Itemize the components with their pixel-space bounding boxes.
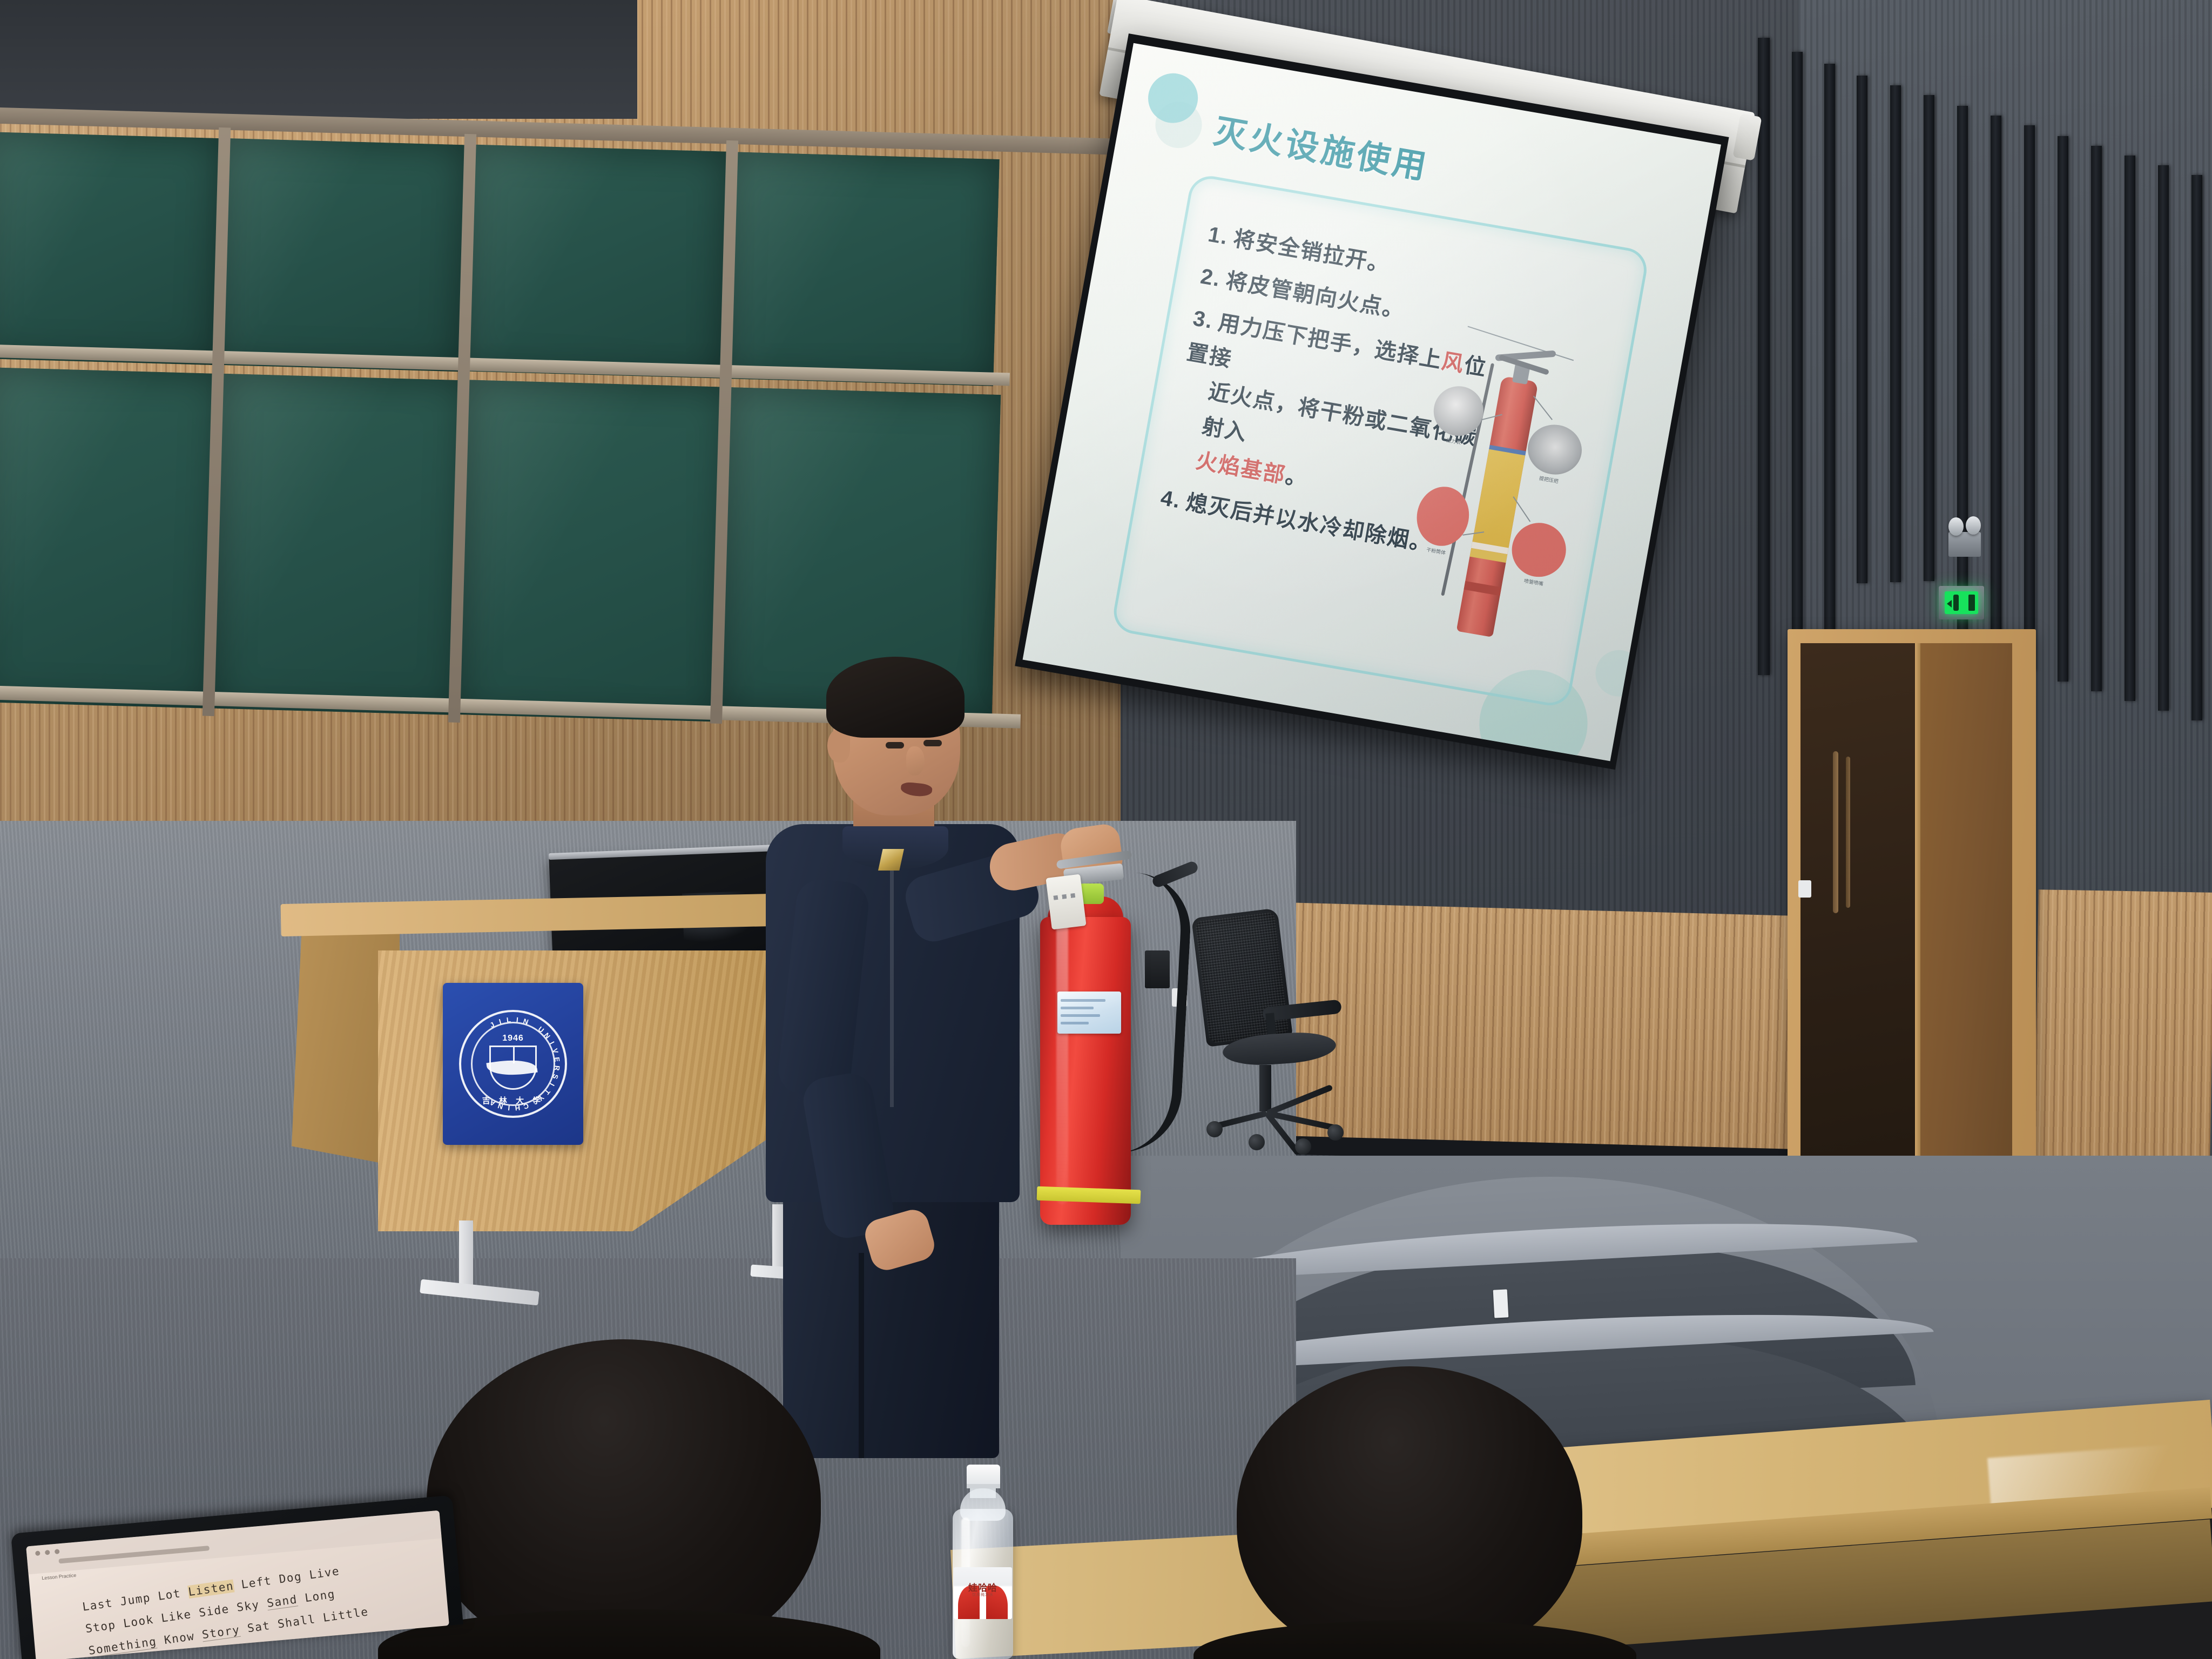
slide-step-3-number: 3. [1191,306,1216,333]
water-bottle[interactable]: 娃哈哈 饮用纯净水 [946,1466,1022,1659]
chair-base [1197,1103,1343,1145]
student-head-right [1237,1366,1582,1659]
diagram-callout-nozzle [1508,519,1570,581]
extinguisher-nozzle [1151,860,1199,888]
exit-sign [1939,586,1984,619]
lecture-hall-photo: 灭火设施使用 1.将安全销拉开。 2.将皮管朝向火点。 3.用力压下把手，选择上… [0,0,2212,1659]
office-chair[interactable] [1177,913,1355,1166]
emergency-lamp-right [1966,516,1981,535]
chair-caster-4 [1206,1121,1223,1137]
door-leaf[interactable] [1915,643,2012,1193]
extinguisher-safety-pin-tag[interactable] [1046,874,1086,929]
diagram-callout-1-caption: 压力表 [1424,434,1483,450]
slide-step-3-line3-tail: 。 [1284,464,1310,491]
exit-door-icon [1968,595,1975,611]
presenter-hair [826,657,965,738]
door-recess [1800,643,1928,1193]
wainscot-right [2033,889,2212,1195]
laptop-tab-label: Lesson Practice [42,1573,77,1581]
diagram-callout-handle [1524,421,1586,479]
browser-address-bar[interactable] [58,1546,210,1563]
presenter-trouser-seam [859,1253,864,1458]
extinguisher-label [1057,992,1121,1034]
presenter-shirt-placket [890,853,894,1107]
slide-step-1-number: 1. [1206,222,1231,249]
slide-content-card: 1.将安全销拉开。 2.将皮管朝向火点。 3.用力压下把手，选择上风位置接 近火… [1110,173,1650,709]
presenter-nose [906,746,925,775]
seal-chinese-name: 吉 林 大 学 [459,1095,567,1106]
lectern: JILIN UNIVERSITY·CHINA 1946 吉 林 大 学 [378,950,788,1274]
lectern-wood-grain [378,950,788,1231]
seal-year: 1946 [459,1034,567,1043]
lectern-front-panel [378,950,788,1231]
chair-caster-2 [1249,1134,1265,1150]
bottle-label: 娃哈哈 饮用纯净水 [954,1567,1012,1619]
door-handle-bar[interactable] [1833,751,1838,913]
wall-socket[interactable] [1798,880,1811,898]
university-plaque: JILIN UNIVERSITY·CHINA 1946 吉 林 大 学 [443,983,583,1145]
door-frame [1788,629,2036,1202]
chair-caster-1 [1327,1124,1344,1141]
slide-step-4-number: 4. [1159,486,1183,513]
emergency-light-housing [1948,532,1981,557]
university-seal: JILIN UNIVERSITY·CHINA 1946 吉 林 大 学 [459,1010,567,1118]
slide-title: 灭火设施使用 [1211,104,1433,188]
door-leaf-edge [1915,643,1920,1193]
bottle-subtitle: 饮用纯净水 [954,1592,1012,1597]
diagram-callout-3-caption: 干粉筒体 [1406,544,1466,560]
lectern-leg-front [459,1220,473,1291]
door-handle-bar-secondary[interactable] [1846,757,1850,908]
diagram-callout-4-caption: 喷管喷嘴 [1504,575,1563,591]
fire-extinguisher[interactable] [1026,864,1199,1253]
exit-sign-glyph [1945,591,1978,614]
diagram-callout-2-caption: 提把压把 [1519,472,1579,488]
extinguisher-highlight [1056,923,1068,1204]
chair-caster-3 [1295,1138,1311,1155]
extinguisher-cylinder [1040,917,1131,1225]
emergency-lamp-left [1948,517,1964,536]
extinguisher-tag-marks [1053,893,1077,900]
running-man-icon [1953,595,1959,611]
slide-step-2-number: 2. [1199,264,1223,291]
chair-backrest [1191,908,1293,1047]
exit-arrow-icon [1947,600,1952,608]
bottle-cap-ring [967,1484,1000,1488]
stage-floor-socket[interactable] [1493,1289,1509,1318]
